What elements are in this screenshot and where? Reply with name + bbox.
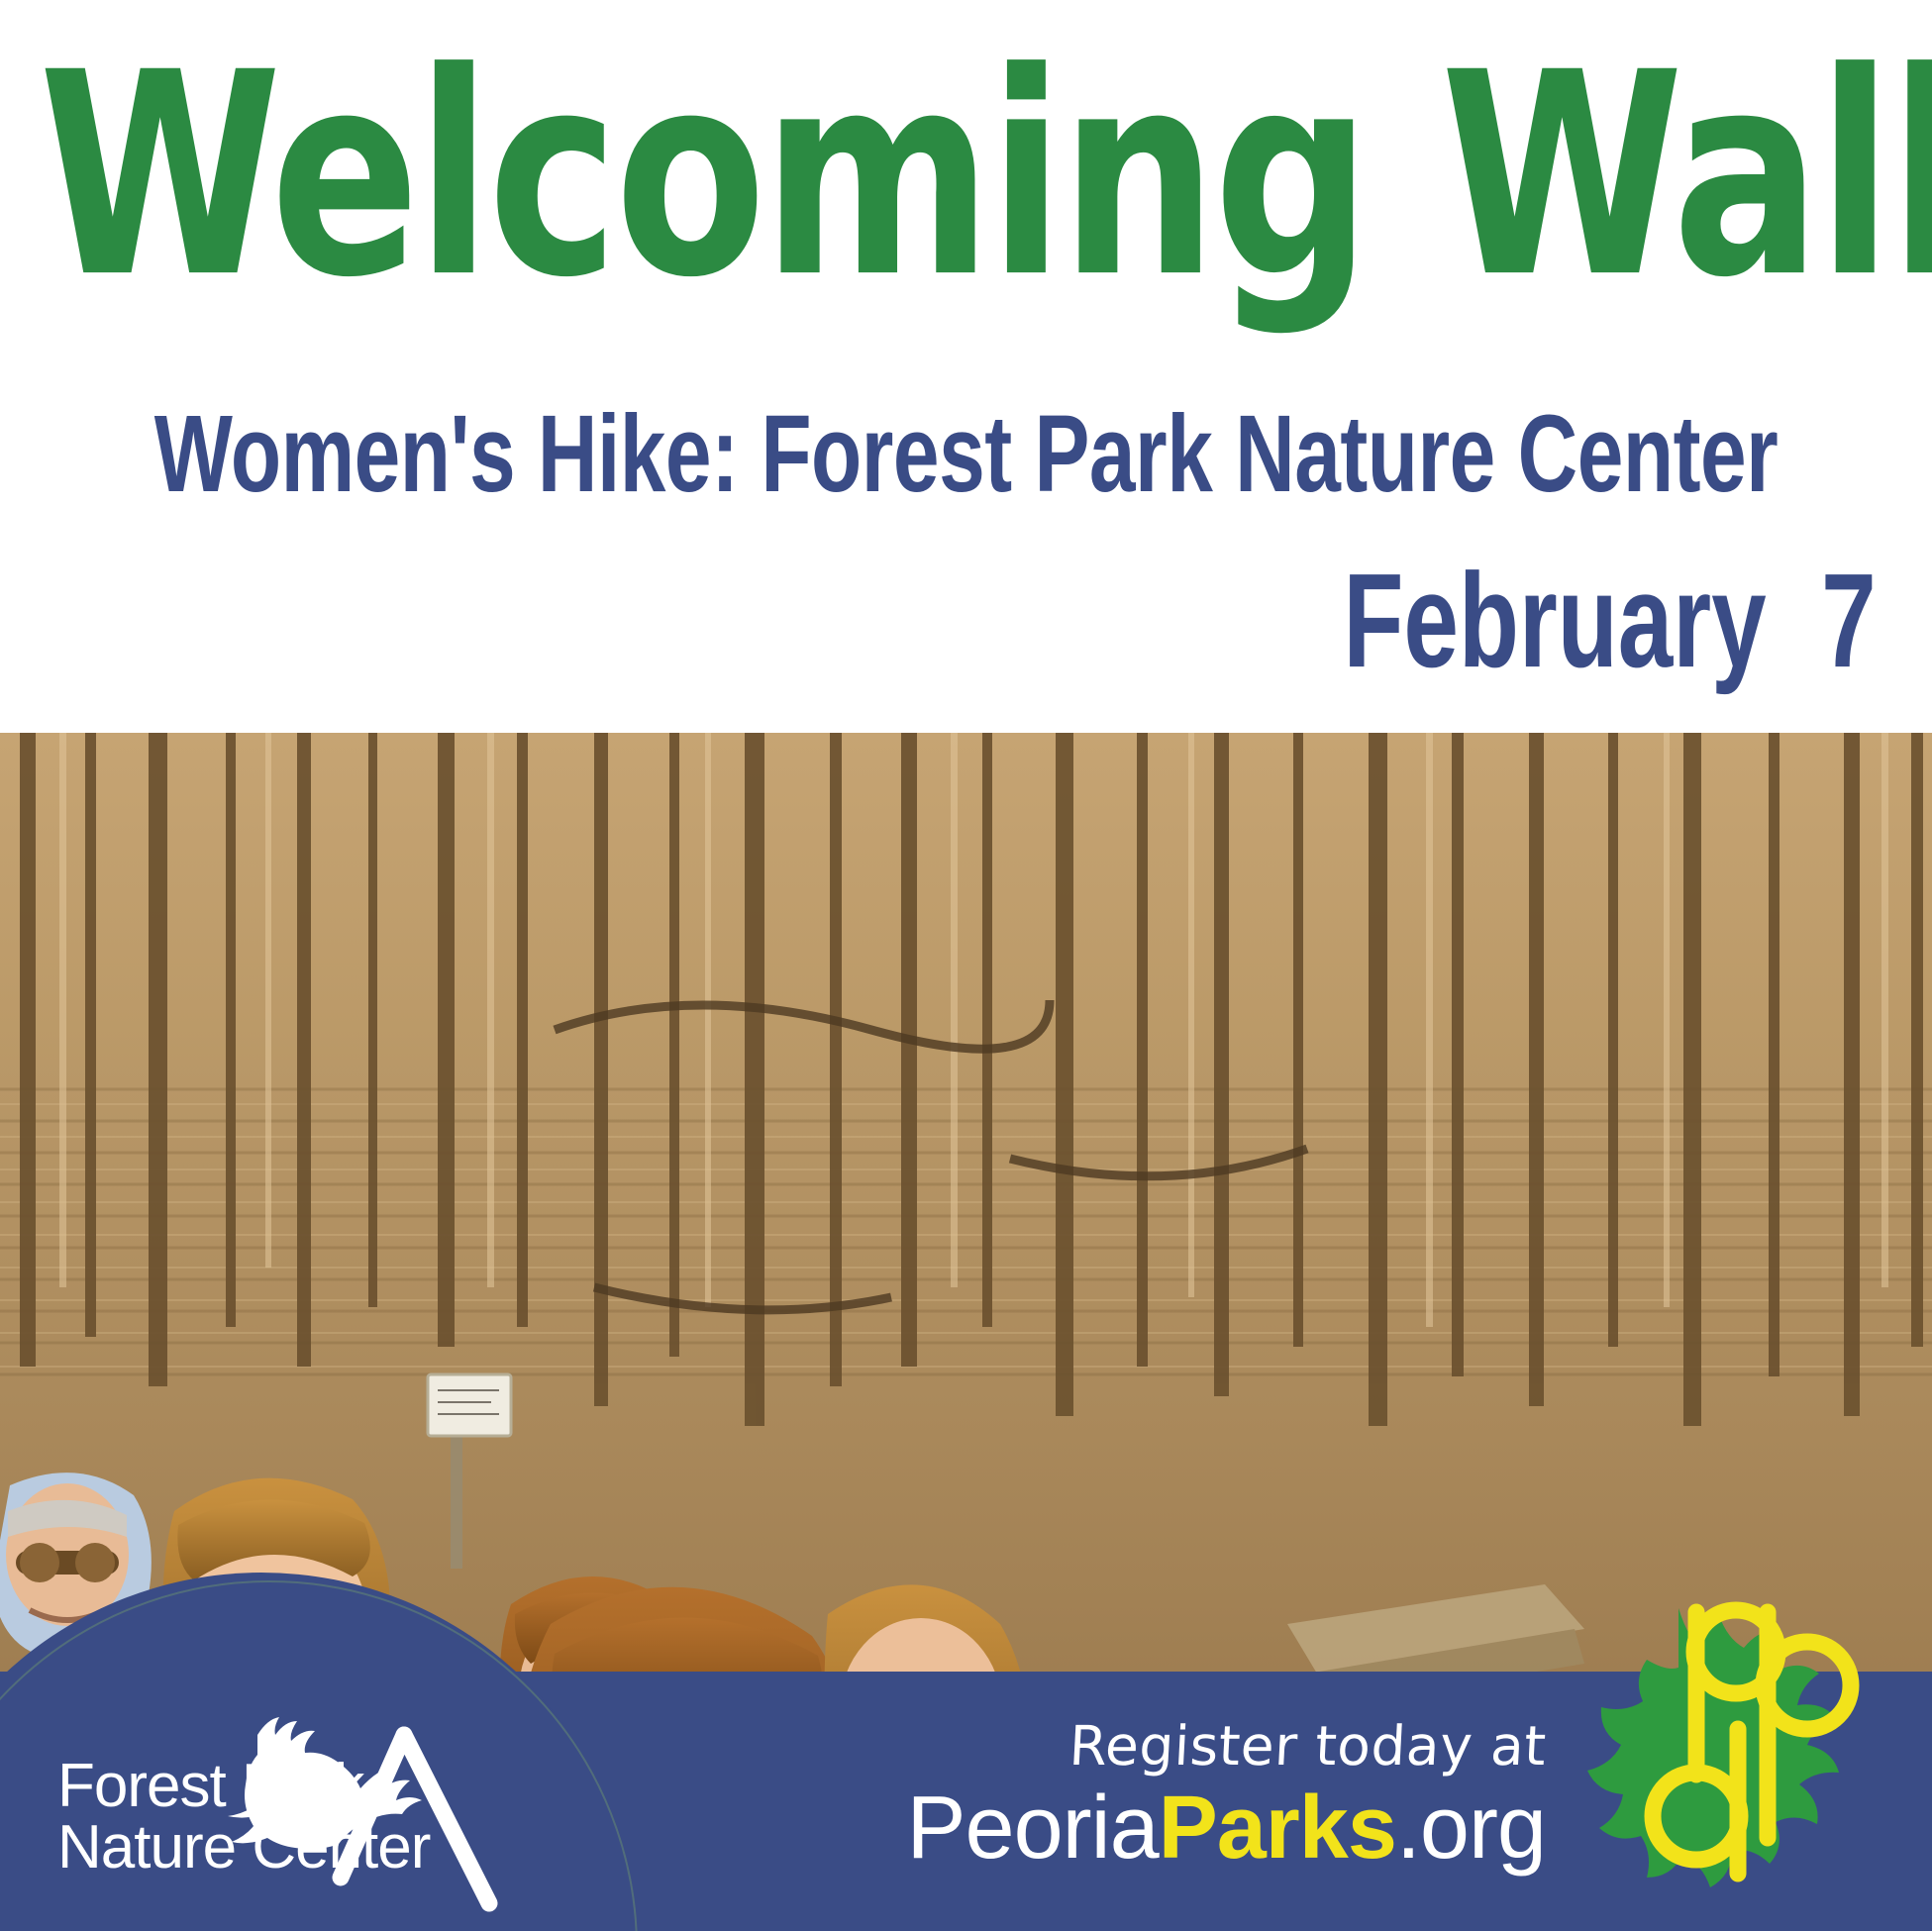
fpnc-logo-svg: Forest Park Nature Center — [46, 1683, 560, 1921]
ppd-logo-svg — [1587, 1590, 1914, 1917]
register-callout: Register today at PeoriaParks.org — [907, 1719, 1546, 1876]
header-block: Welcoming Walks: Women's Hike: Forest Pa… — [0, 0, 1932, 733]
event-subtitle: Women's Hike: Forest Park Nature Center — [24, 400, 1907, 509]
peoria-park-district-logo — [1587, 1590, 1914, 1917]
poster-canvas: Welcoming Walks: Women's Hike: Forest Pa… — [0, 0, 1932, 1931]
fpnc-line1: Forest Park — [57, 1752, 365, 1820]
website-url[interactable]: PeoriaParks.org — [907, 1781, 1546, 1876]
url-suffix: .org — [1396, 1779, 1546, 1878]
fpnc-line2: Nature Center — [57, 1813, 431, 1881]
register-prompt: Register today at — [905, 1719, 1547, 1774]
event-date: February 7 — [1344, 555, 1877, 688]
url-highlight: Parks — [1159, 1779, 1396, 1878]
forest-park-nature-center-logo: Forest Park Nature Center — [46, 1683, 560, 1921]
url-prefix: Peoria — [907, 1779, 1159, 1878]
page-title: Welcoming Walks: — [39, 36, 1893, 316]
